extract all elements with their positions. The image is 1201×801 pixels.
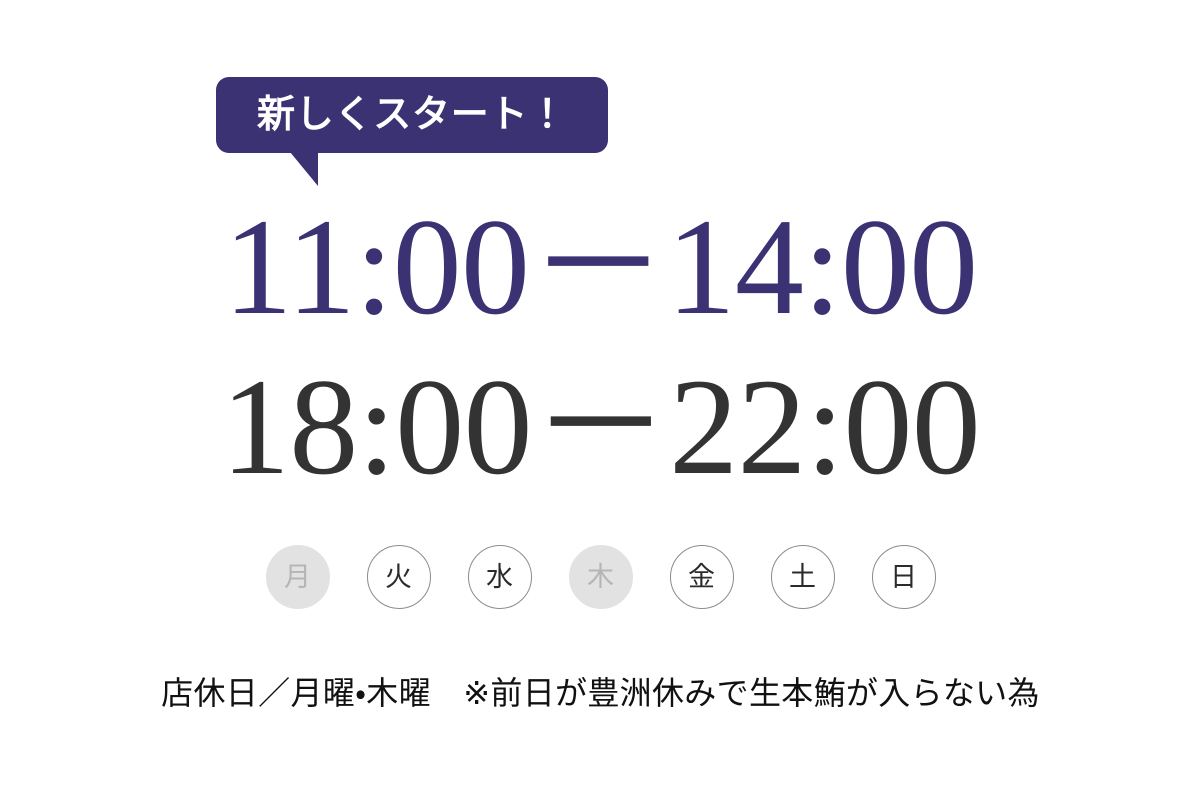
weekday-label: 土 bbox=[789, 564, 816, 591]
weekday-label: 木 bbox=[587, 564, 614, 591]
weekday-circle: 水 bbox=[468, 545, 532, 609]
weekday-label: 月 bbox=[284, 564, 311, 591]
weekday-circle: 火 bbox=[367, 545, 431, 609]
weekday-circle: 金 bbox=[670, 545, 734, 609]
weekday-label: 火 bbox=[385, 564, 412, 591]
badge-body: 新しくスタート！ bbox=[216, 77, 608, 153]
dinner-hours: 18:00－22:00 bbox=[0, 358, 1201, 496]
closed-days-note: 店休日／月曜・木曜 ※前日が豊洲休みで生本鮪が入らない為 bbox=[0, 672, 1201, 715]
lunch-hours: 11:00－14:00 bbox=[0, 198, 1201, 336]
weekday-circle: 木 bbox=[569, 545, 633, 609]
badge-tail-icon bbox=[290, 152, 318, 186]
weekday-circle: 土 bbox=[771, 545, 835, 609]
badge-label: 新しくスタート！ bbox=[257, 96, 567, 134]
new-start-badge: 新しくスタート！ bbox=[216, 77, 608, 153]
weekday-label: 金 bbox=[688, 564, 715, 591]
weekday-circle: 日 bbox=[872, 545, 936, 609]
weekday-label: 日 bbox=[890, 564, 917, 591]
weekday-circle: 月 bbox=[266, 545, 330, 609]
weekday-label: 水 bbox=[486, 564, 513, 591]
business-hours-graphic: 新しくスタート！ 11:00－14:00 18:00－22:00 月火水木金土日… bbox=[0, 0, 1201, 801]
weekday-row: 月火水木金土日 bbox=[0, 545, 1201, 609]
